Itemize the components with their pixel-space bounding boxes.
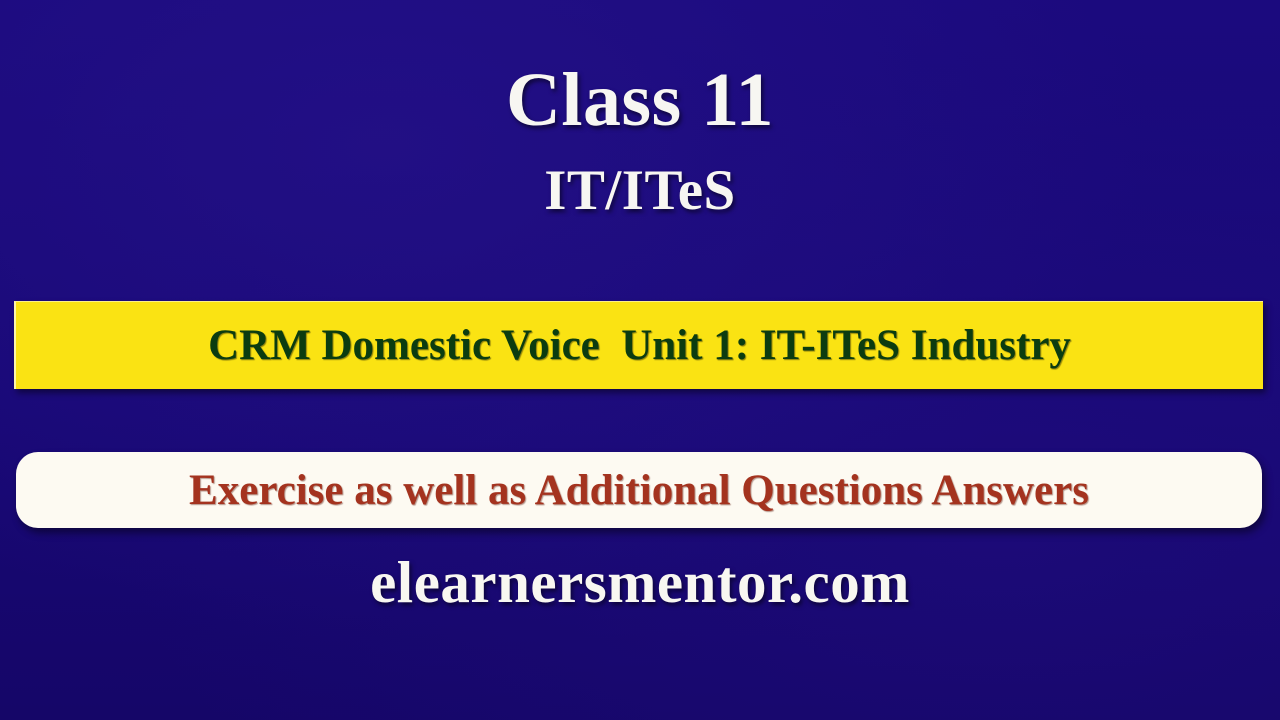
page-subtitle: IT/ITeS	[0, 162, 1280, 220]
yellow-banner: CRM Domestic Voice Unit 1: IT-ITeS Indus…	[14, 301, 1263, 389]
callout-label: Exercise as well as Additional Questions…	[189, 469, 1089, 512]
poster-canvas: Class 11 IT/ITeS CRM Domestic Voice Unit…	[0, 0, 1280, 720]
website-url-text: elearnersmentor.com	[370, 549, 910, 615]
headline-block: Class 11 IT/ITeS	[0, 62, 1280, 220]
white-callout-box: Exercise as well as Additional Questions…	[16, 452, 1262, 528]
page-title: Class 11	[0, 62, 1280, 140]
banner-label: CRM Domestic Voice Unit 1: IT-ITeS Indus…	[208, 324, 1071, 367]
website-line: elearnersmentor.com	[0, 552, 1280, 614]
